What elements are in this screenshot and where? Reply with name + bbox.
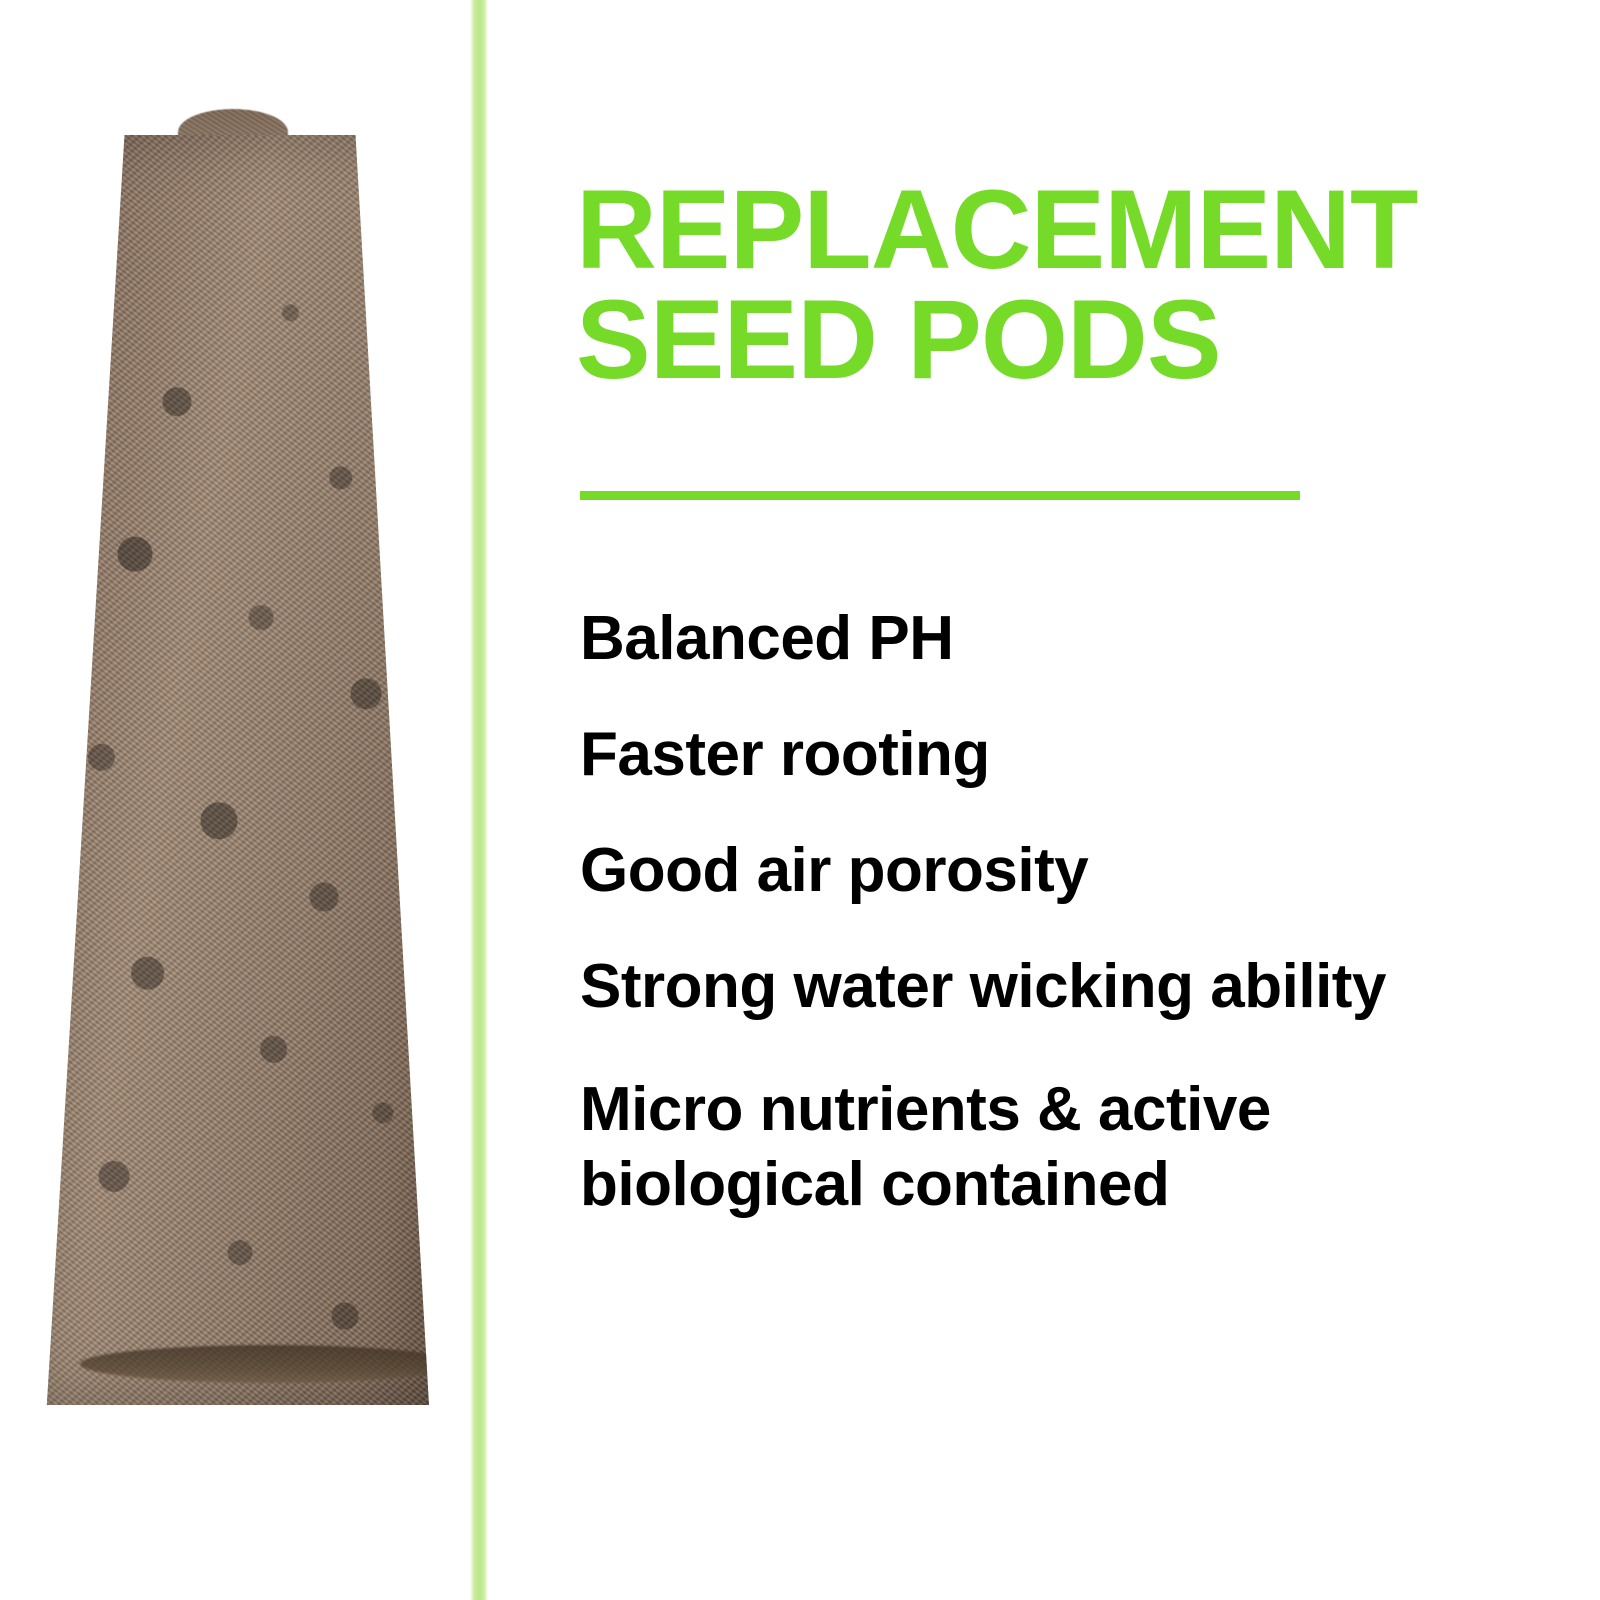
headline-line-2: SEED PODS bbox=[576, 285, 1540, 395]
list-item: Strong water wicking ability bbox=[580, 956, 1540, 1018]
vertical-divider bbox=[470, 0, 488, 1600]
product-feature-card: REPLACEMENT SEED PODS Balanced PH Faster… bbox=[0, 0, 1600, 1600]
list-item: Faster rooting bbox=[580, 724, 1540, 786]
content-panel: REPLACEMENT SEED PODS Balanced PH Faster… bbox=[488, 0, 1600, 1600]
list-item: Good air porosity bbox=[580, 840, 1540, 902]
seed-pod-body bbox=[30, 135, 450, 1405]
list-item: Balanced PH bbox=[580, 608, 1540, 670]
seed-pod-image bbox=[0, 95, 470, 1425]
headline-line-1: REPLACEMENT bbox=[576, 167, 1417, 292]
feature-list: Balanced PH Faster rooting Good air poro… bbox=[576, 500, 1540, 1223]
page-title: REPLACEMENT SEED PODS bbox=[576, 0, 1540, 395]
list-item: Micro nutrients & active biological cont… bbox=[580, 1072, 1540, 1223]
product-image-panel bbox=[0, 0, 470, 1600]
seed-pod-bottom-opening bbox=[80, 1345, 460, 1383]
title-underline-rule bbox=[580, 491, 1300, 500]
